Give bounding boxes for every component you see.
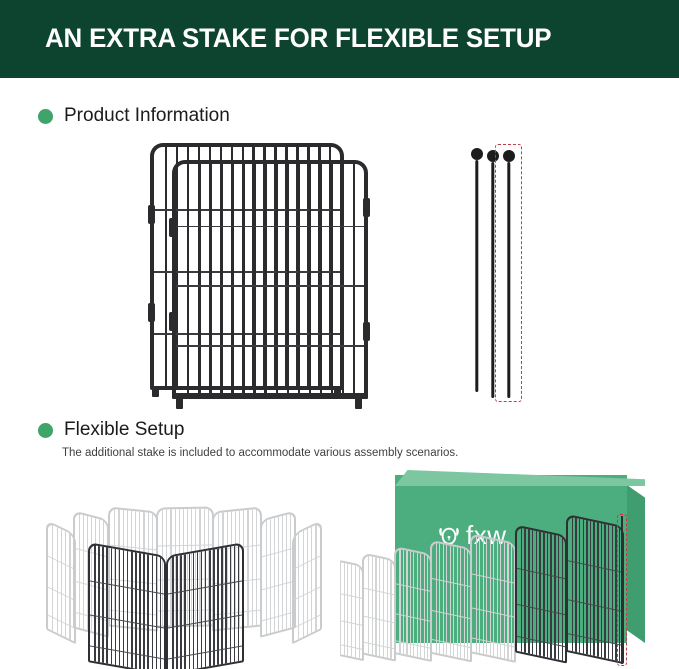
wall-fence-panel-back	[470, 533, 516, 663]
page-title: AN EXTRA STAKE FOR FLEXIBLE SETUP	[45, 23, 551, 54]
vertical-bar	[612, 526, 614, 660]
bullet-dot-icon	[38, 109, 53, 124]
vertical-bar	[575, 518, 577, 652]
vertical-bar	[511, 544, 512, 660]
vertical-bar	[111, 548, 113, 664]
vertical-bar	[172, 557, 174, 669]
wall-fence-panel-back	[394, 546, 432, 662]
vertical-bar	[213, 549, 215, 665]
vertical-bar	[106, 547, 108, 663]
vertical-bar	[220, 164, 222, 393]
vertical-bar	[479, 537, 480, 653]
bullet-dot-icon	[38, 423, 53, 438]
vertical-bar	[524, 528, 526, 652]
vertical-bar	[131, 552, 133, 668]
vertical-bar	[184, 554, 186, 669]
vertical-bar	[270, 519, 271, 633]
vertical-bar	[102, 547, 104, 663]
vertical-bar	[597, 522, 599, 656]
wall-fence-panel-back	[430, 540, 472, 663]
green-wall-side	[627, 485, 645, 643]
vertical-bar	[590, 521, 592, 655]
vertical-bar	[543, 532, 545, 656]
vertical-bar	[375, 557, 376, 655]
vertical-bar	[143, 554, 145, 669]
vertical-bar	[61, 529, 62, 636]
vertical-bar	[383, 559, 384, 657]
hinge-icon	[363, 198, 370, 217]
vertical-bar	[315, 524, 316, 631]
pen-panel-bars	[48, 523, 74, 642]
vertical-bar	[460, 548, 461, 658]
pen-panel-front	[166, 542, 244, 669]
stake-head-icon	[471, 148, 483, 160]
vertical-bar	[507, 543, 508, 659]
vertical-bar	[390, 560, 391, 658]
vertical-bar	[274, 518, 275, 632]
vertical-bar	[436, 543, 437, 653]
vertical-bar	[604, 524, 606, 658]
vertical-bar	[225, 547, 227, 663]
vertical-bar	[52, 525, 53, 632]
vertical-bar	[119, 550, 121, 666]
vertical-bar	[493, 540, 494, 656]
wall-fence-panel-back	[340, 559, 364, 661]
stake-highlight-box	[495, 144, 522, 402]
vertical-bar	[238, 545, 240, 661]
vertical-bar	[242, 164, 244, 393]
vertical-bar	[347, 564, 348, 656]
wall-scene-illustration: fxw	[340, 470, 679, 669]
section-subtitle: The additional stake is included to acco…	[62, 447, 458, 459]
vertical-bar	[221, 548, 223, 664]
wall-fence-panel-bars	[568, 516, 622, 661]
vertical-bar	[486, 539, 487, 655]
vertical-bar	[180, 555, 182, 669]
wall-fence-panel-bars	[340, 561, 362, 659]
vertical-bar	[79, 514, 80, 628]
vertical-bar	[579, 519, 581, 653]
vertical-bar	[399, 549, 400, 653]
vertical-bar	[521, 528, 523, 652]
vertical-bar	[554, 535, 556, 659]
vertical-bar	[69, 533, 70, 640]
section-heading-product-information: Product Information	[38, 105, 230, 127]
header-banner: AN EXTRA STAKE FOR FLEXIBLE SETUP	[0, 0, 679, 76]
vertical-bar	[351, 564, 352, 656]
vertical-bar	[139, 553, 141, 669]
vertical-bar	[558, 536, 560, 660]
vertical-bar	[201, 551, 203, 667]
wall-fence-panel-bars	[517, 527, 565, 661]
vertical-bar	[601, 523, 603, 657]
vertical-bar	[197, 552, 199, 668]
vertical-bar	[264, 164, 266, 393]
vertical-bar	[476, 536, 477, 652]
vertical-bar	[417, 553, 418, 657]
wall-fence-panel-front	[515, 524, 567, 663]
vertical-bar	[427, 555, 428, 659]
vertical-bar	[230, 546, 232, 662]
vertical-bar	[287, 164, 289, 393]
vertical-bar	[467, 549, 468, 659]
wall-fence-panel-bars	[364, 555, 394, 659]
wall-fence-panel-back	[362, 552, 396, 661]
section-heading-flexible-setup: Flexible Setup	[38, 419, 184, 441]
header-underline	[0, 76, 679, 78]
vertical-bar	[572, 517, 574, 651]
vertical-bar	[593, 522, 595, 656]
vertical-bar	[266, 520, 267, 634]
panel-foot	[334, 386, 341, 397]
vertical-bar	[353, 164, 355, 393]
infographic-page: AN EXTRA STAKE FOR FLEXIBLE SETUP Produc…	[0, 0, 679, 669]
stake-shaft	[475, 160, 478, 392]
vertical-bar	[303, 531, 304, 638]
vertical-bar	[189, 554, 191, 669]
horizontal-rail	[176, 345, 364, 347]
vertical-bar	[198, 164, 200, 393]
wall-stake-highlight-box	[617, 514, 627, 666]
vertical-bar	[160, 557, 162, 669]
vertical-bar	[583, 519, 585, 653]
pen-panel-bars	[294, 523, 320, 642]
vertical-bar	[309, 164, 311, 393]
pen-panel-bars	[90, 544, 164, 669]
vertical-bar	[453, 546, 454, 656]
vertical-bar	[550, 534, 552, 658]
wall-fence-panel-front	[566, 514, 624, 664]
vertical-bar	[372, 556, 373, 654]
vertical-bar	[420, 554, 421, 658]
vertical-bar	[286, 515, 287, 629]
vertical-bar	[147, 555, 149, 669]
hinge-icon	[169, 312, 176, 331]
vertical-bar	[359, 566, 360, 658]
panel-foot	[152, 386, 159, 397]
vertical-bar	[217, 549, 219, 665]
wall-fence-panel-bars	[396, 548, 430, 659]
pen-panel-bars	[168, 544, 242, 669]
stake-1	[470, 148, 484, 392]
pen-panel-back	[260, 510, 296, 638]
vertical-bar	[562, 536, 564, 660]
vertical-bar	[256, 509, 257, 625]
vertical-bar	[406, 551, 407, 655]
pen-panel-back	[46, 520, 76, 645]
vertical-bar	[450, 546, 451, 656]
stake-group	[470, 140, 550, 410]
vertical-bar	[307, 528, 308, 635]
section-title: Product Information	[64, 105, 230, 127]
vertical-bar	[135, 552, 137, 668]
vertical-bar	[424, 554, 425, 658]
vertical-bar	[247, 510, 248, 626]
vertical-bar	[156, 556, 158, 669]
vertical-bar	[193, 553, 195, 669]
vertical-bar	[608, 525, 610, 659]
panel-foot	[176, 398, 183, 409]
panel-foot	[355, 398, 362, 409]
vertical-bar	[320, 164, 322, 393]
vertical-bar	[490, 539, 491, 655]
vertical-bar	[278, 517, 279, 631]
vertical-bar	[98, 546, 100, 662]
vertical-bar	[209, 550, 211, 666]
vertical-bar	[290, 513, 291, 627]
vertical-bar	[439, 543, 440, 653]
green-wall-top	[395, 470, 645, 486]
vertical-bar	[497, 541, 498, 657]
vertical-bar	[282, 516, 283, 630]
vertical-bar	[94, 545, 96, 661]
vertical-bar	[355, 565, 356, 657]
vertical-bar	[342, 164, 344, 393]
vertical-bar	[528, 529, 530, 653]
vertical-bar	[311, 526, 312, 633]
vertical-bar	[331, 164, 333, 393]
section-title: Flexible Setup	[64, 419, 184, 441]
panel-bars	[176, 164, 364, 393]
vertical-bar	[176, 556, 178, 669]
vertical-bar	[231, 164, 233, 393]
wall-fence-panel-bars	[432, 542, 470, 660]
vertical-bar	[209, 164, 211, 393]
vertical-bar	[368, 556, 369, 654]
vertical-bar	[115, 549, 117, 665]
vertical-bar	[536, 531, 538, 655]
vertical-bar	[532, 530, 534, 654]
vertical-bar	[500, 542, 501, 658]
vertical-bar	[504, 542, 505, 658]
pen-panel-front	[88, 542, 166, 669]
hinge-icon	[148, 303, 155, 322]
vertical-bar	[83, 515, 84, 629]
vertical-bar	[547, 533, 549, 657]
vertical-bar	[165, 147, 167, 386]
vertical-bar	[123, 550, 125, 666]
vertical-bar	[65, 531, 66, 638]
vertical-bar	[252, 509, 253, 625]
wall-fence-panel-bars	[472, 536, 514, 661]
vertical-bar	[57, 527, 58, 634]
vertical-bar	[187, 164, 189, 393]
vertical-bar	[443, 544, 444, 654]
pen-panel-back	[292, 520, 322, 645]
vertical-bar	[446, 545, 447, 655]
vertical-bar	[379, 558, 380, 656]
product-illustration	[150, 140, 380, 410]
hinge-icon	[169, 218, 176, 237]
vertical-bar	[410, 551, 411, 655]
vertical-bar	[344, 563, 345, 655]
vertical-bar	[298, 533, 299, 640]
vertical-bar	[253, 164, 255, 393]
vertical-bar	[205, 551, 207, 667]
vertical-bar	[152, 555, 154, 669]
octagon-playpen-illustration	[40, 487, 330, 669]
horizontal-rail	[176, 285, 364, 287]
hinge-icon	[148, 205, 155, 224]
vertical-bar	[413, 552, 414, 656]
vertical-bar	[464, 549, 465, 659]
vertical-bar	[586, 520, 588, 654]
vertical-bar	[483, 538, 484, 654]
vertical-bar	[340, 562, 341, 654]
fence-panel-front	[172, 160, 368, 397]
vertical-bar	[403, 550, 404, 654]
hinge-icon	[363, 322, 370, 341]
pen-panel-bars	[262, 513, 294, 636]
vertical-bar	[457, 547, 458, 657]
vertical-bar	[298, 164, 300, 393]
vertical-bar	[539, 532, 541, 656]
vertical-bar	[127, 551, 129, 667]
vertical-bar	[387, 560, 388, 658]
horizontal-rail	[176, 226, 364, 228]
vertical-bar	[234, 546, 236, 662]
vertical-bar	[276, 164, 278, 393]
